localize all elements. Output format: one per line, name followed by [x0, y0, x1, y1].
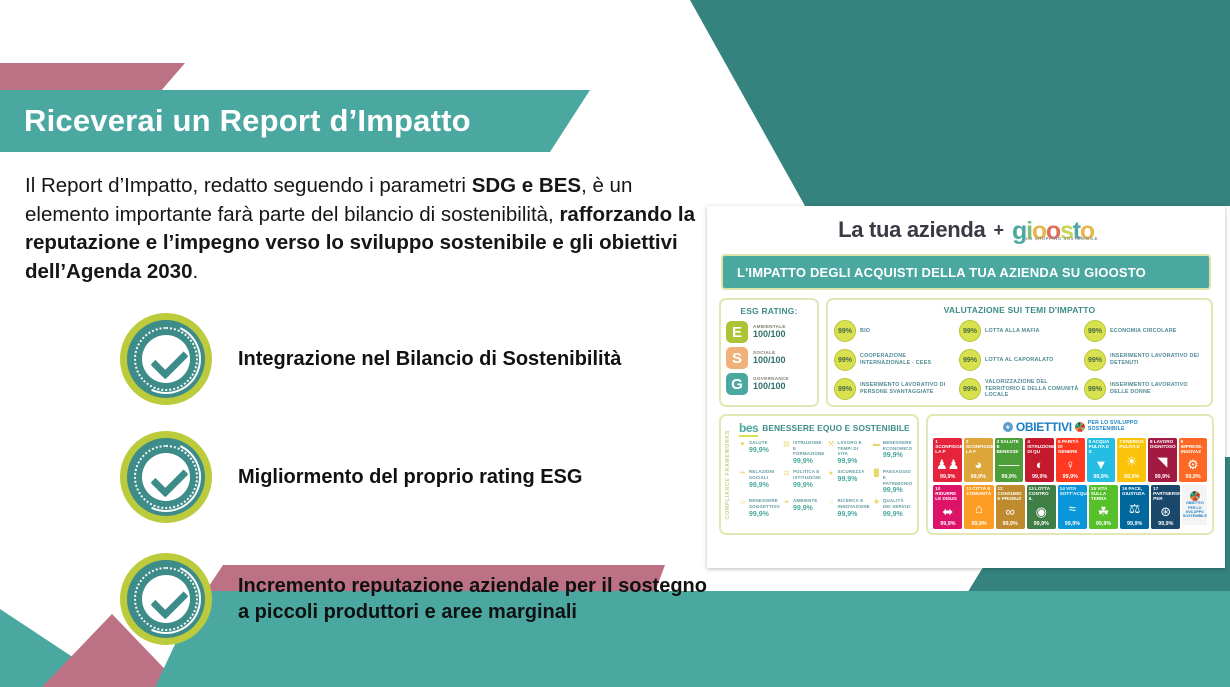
- sdg-title-main: OBIETTIVI: [1016, 420, 1072, 434]
- bes-item: ❧AMBIENTE99,9%: [783, 498, 825, 517]
- impact-themes-panel: VALUTAZIONE SUI TEMI D'IMPATTO 99%BIO99%…: [826, 298, 1213, 407]
- paragraph-part-1: Il Report d’Impatto, redatto seguendo i …: [25, 174, 472, 197]
- sdg-tile-glyph: ▼: [1089, 454, 1114, 474]
- sdg-tile-value: 99,9%: [1058, 474, 1083, 480]
- theme-item: 99%COOPERAZIONE INTERNAZIONALE - CEES: [834, 348, 955, 372]
- theme-percent-badge: 99%: [1084, 320, 1106, 342]
- list-item-label: Incremento reputazione aziendale per il …: [238, 573, 710, 625]
- sdg-tile-glyph: ◥: [1150, 450, 1175, 474]
- sdg-tile: 4 ISTRUZIONE DI QU◐99,9%: [1025, 438, 1054, 482]
- sdg-tile-glyph: ☀: [1119, 450, 1144, 474]
- sdg-tile-number: 12 CONSUMO E PRODUZ: [998, 487, 1023, 501]
- esg-letter-s: S: [726, 347, 748, 369]
- sdg-tile-number: 11 CITTÀ E COMUNITÀ: [966, 487, 991, 497]
- bulb-icon: ○: [828, 499, 835, 506]
- top-panels-row: ESG RATING: E AMBIENTALE 100/100 S SOCIA…: [719, 298, 1213, 407]
- impact-banner-text: L'IMPATTO DEGLI ACQUISTI DELLA TUA AZIEN…: [737, 265, 1146, 280]
- sdg-tile: 2 SCONFIGGERE LA F◕99,9%: [964, 438, 993, 482]
- esg-letter-g: G: [726, 373, 748, 395]
- bes-grid: ♥SALUTE99,9%▤ISTRUZIONE E FORMAZIONE99,9…: [739, 440, 912, 518]
- bes-item-label: BENESSERE ECONOMICO: [883, 440, 912, 451]
- sdg-tile-number: 4 ISTRUZIONE DI QU: [1027, 440, 1052, 454]
- wallet-icon: ▬: [873, 441, 880, 448]
- sdg-tile-glyph: ⌂: [966, 497, 991, 521]
- sdg-logo-line-2: PER LO SVILUPPO SOSTENIBILE: [1182, 507, 1207, 519]
- sdg-tile-number: 3 SALUTE E BENESSE: [997, 440, 1022, 454]
- bes-item-value: 99,9%: [793, 505, 818, 512]
- company-label: La tua azienda: [838, 217, 985, 243]
- impact-report-card: La tua azienda + gioosto LO SHOPPING SOS…: [707, 206, 1225, 568]
- sdg-tile-value: 99,9%: [997, 474, 1022, 480]
- sdg-tile-row: 1 SCONFIGGERE LA P♟♟99,9%2 SCONFIGGERE L…: [933, 438, 1207, 482]
- sdg-tile-number: 2 SCONFIGGERE LA F: [966, 440, 991, 454]
- sdg-tile-glyph: ≈: [1060, 497, 1085, 521]
- card-header: La tua azienda + gioosto LO SHOPPING SOS…: [707, 206, 1225, 254]
- bes-item: ▬BENESSERE ECONOMICO99,9%: [873, 440, 912, 465]
- theme-label: INSERIMENTO LAVORATIVO DI PERSONE SVANTA…: [860, 382, 955, 396]
- theme-item: 99%INSERIMENTO LAVORATIVO DELLE DONNE: [1084, 377, 1205, 401]
- sdg-tile-number: 5 PARITÀ DI GENERE: [1058, 440, 1083, 454]
- check-circle-icon: [120, 313, 212, 405]
- sdg-tile: 17 PARTNERSHIP PER ⊛99,9%: [1151, 485, 1180, 529]
- leaf-icon: ❧: [783, 499, 790, 506]
- book-icon: ▤: [783, 441, 790, 448]
- list-item: Integrazione nel Bilancio di Sostenibili…: [120, 313, 710, 405]
- sdg-tile-number: 9 IMPRESE, INNOVAZ: [1181, 440, 1206, 454]
- themes-column: 99%BIO99%COOPERAZIONE INTERNAZIONALE - C…: [834, 319, 955, 401]
- sdg-tile: 7 ENERGIA PULITA E☀99,9%: [1117, 438, 1146, 482]
- sdg-tile: 1 SCONFIGGERE LA P♟♟99,9%: [933, 438, 962, 482]
- sdg-tile-glyph: ⬌: [935, 501, 960, 521]
- impact-banner: L'IMPATTO DEGLI ACQUISTI DELLA TUA AZIEN…: [721, 254, 1211, 290]
- sdg-tile-value: 99,9%: [966, 474, 991, 480]
- theme-percent-badge: 99%: [1084, 378, 1106, 400]
- sdg-tile-value: 99,9%: [1091, 521, 1116, 527]
- theme-label: LOTTA AL CAPORALATO: [985, 357, 1054, 364]
- bes-item-value: 99,9%: [838, 458, 870, 465]
- bes-item-value: 99,9%: [883, 452, 912, 459]
- slide-canvas: Riceverai un Report d’Impatto Il Report …: [0, 0, 1230, 687]
- sdg-tile-number: 16 PACE, GIUSTIZIA: [1122, 487, 1147, 497]
- themes-grid: 99%BIO99%COOPERAZIONE INTERNAZIONALE - C…: [834, 319, 1205, 401]
- bes-item-value: 99,9%: [838, 511, 870, 518]
- theme-label: LOTTA ALLA MAFIA: [985, 328, 1040, 335]
- sdg-tile-number: 8 LAVORO DIGNITOSO: [1150, 440, 1175, 450]
- sdg-tile-value: 99,9%: [935, 521, 960, 527]
- paragraph-bold-1: SDG e BES: [472, 174, 581, 197]
- bes-item: ⚖POLITICA E ISTITUZIONI99,9%: [783, 469, 825, 494]
- sdg-tile-glyph: ⊛: [1153, 501, 1178, 521]
- work-icon: ⚒: [828, 441, 835, 448]
- theme-item: 99%INSERIMENTO LAVORATIVO DI PERSONE SVA…: [834, 377, 955, 401]
- sdg-wheel-icon: [1075, 422, 1085, 432]
- list-item-label: Integrazione nel Bilancio di Sostenibili…: [238, 346, 621, 372]
- sdg-tile-value: 99,9%: [1153, 521, 1178, 527]
- sdg-tile-value: 99,9%: [1122, 521, 1147, 527]
- scales-icon: ⚖: [783, 470, 790, 477]
- sdg-tile-number: 13 LOTTA CONTRO IL: [1029, 487, 1054, 501]
- shield-icon: ●: [828, 470, 835, 477]
- esg-row-s: S SOCIALE 100/100: [726, 347, 812, 369]
- sdg-tile-value: 99,9%: [1181, 474, 1206, 480]
- list-item: Migliormento del proprio rating ESG: [120, 431, 710, 523]
- title-banner: Riceverai un Report d’Impatto: [0, 90, 590, 152]
- theme-label: INSERIMENTO LAVORATIVO DEI DETENUTI: [1110, 353, 1205, 367]
- benefits-list: Integrazione nel Bilancio di Sostenibili…: [120, 313, 710, 671]
- sdg-tile-glyph: ∞: [998, 501, 1023, 521]
- bes-header: bes BENESSERE EQUO E SOSTENIBILE: [739, 421, 912, 435]
- sdg-title-sub-2: SOSTENIBILE: [1088, 427, 1138, 433]
- theme-item: 99%VALORIZZAZIONE DEL TERRITORIO E DELLA…: [959, 377, 1080, 401]
- bes-item: ⚒LAVORO E TEMPI DI VITA99,9%: [828, 440, 870, 465]
- bes-item-label: QUALITÀ DEI SERVIZI: [883, 498, 912, 509]
- bes-item: ●SICUREZZA99,9%: [828, 469, 870, 494]
- esg-score-g: 100/100: [753, 382, 789, 391]
- esg-row-g: G GOVERNANCE 100/100: [726, 373, 812, 395]
- esg-row-e: E AMBIENTALE 100/100: [726, 321, 812, 343]
- compliance-frameworks-label: COMPLIANCE FRAMEWORKS: [725, 430, 731, 519]
- sdg-tile-glyph: ⸺: [997, 454, 1022, 474]
- sdg-tile: 13 LOTTA CONTRO IL ◉99,9%: [1027, 485, 1056, 529]
- bes-item-label: PAESAGGIO E PATRIMONIO: [883, 469, 912, 486]
- sdg-tile: 11 CITTÀ E COMUNITÀ⌂99,9%: [964, 485, 993, 529]
- sdg-tile-glyph: ◉: [1029, 501, 1054, 521]
- sdg-wheel-icon: [1190, 491, 1200, 501]
- theme-item: 99%LOTTA ALLA MAFIA: [959, 319, 1080, 343]
- gioosto-logo: gioosto LO SHOPPING SOSTENIBILE: [1012, 216, 1094, 245]
- list-item-label: Migliormento del proprio rating ESG: [238, 464, 582, 490]
- sdg-tile-value: 99,9%: [1029, 521, 1054, 527]
- sdg-tile-number: 10 RIDURRE LE DISUG: [935, 487, 960, 501]
- bes-item-value: 99,9%: [749, 447, 769, 454]
- bes-item-label: RELAZIONI SOCIALI: [749, 469, 780, 480]
- bes-item-label: ISTRUZIONE E FORMAZIONE: [793, 440, 825, 457]
- theme-label: COOPERAZIONE INTERNAZIONALE - CEES: [860, 353, 955, 367]
- sdg-tile-value: 99,9%: [1150, 474, 1175, 480]
- sdg-tile: 5 PARITÀ DI GENERE♀99,9%: [1056, 438, 1085, 482]
- bes-item-value: 99,9%: [838, 476, 865, 483]
- bottom-panels-row: COMPLIANCE FRAMEWORKS bes BENESSERE EQUO…: [719, 414, 1213, 535]
- bes-item-value: 99,9%: [883, 511, 912, 518]
- bes-item-label: RICERCA E INNOVAZIONE: [838, 498, 870, 509]
- sdg-tile-value: 99,9%: [966, 521, 991, 527]
- sdg-tile-glyph: ☘: [1091, 501, 1116, 521]
- theme-percent-badge: 99%: [959, 378, 981, 400]
- sdg-tile-number: 17 PARTNERSHIP PER: [1153, 487, 1178, 501]
- bes-item: ☺BENESSERE SOGGETTIVO99,9%: [739, 498, 780, 517]
- bes-item-value: 99,9%: [749, 482, 780, 489]
- bes-panel: COMPLIANCE FRAMEWORKS bes BENESSERE EQUO…: [719, 414, 919, 535]
- sdg-tile: 10 RIDURRE LE DISUG⬌99,9%: [933, 485, 962, 529]
- sdg-tile-value: 99,9%: [1089, 474, 1114, 480]
- bes-item-label: POLITICA E ISTITUZIONI: [793, 469, 825, 480]
- esg-panel-title: ESG RATING:: [726, 306, 812, 316]
- bes-item: ♥SALUTE99,9%: [739, 440, 780, 465]
- plus-symbol: +: [993, 220, 1004, 241]
- theme-label: ECONOMIA CIRCOLARE: [1110, 328, 1177, 335]
- sdg-tile: 9 IMPRESE, INNOVAZ⚙99,9%: [1179, 438, 1208, 482]
- esg-rating-panel: ESG RATING: E AMBIENTALE 100/100 S SOCIA…: [719, 298, 819, 407]
- sdg-tile-row: 10 RIDURRE LE DISUG⬌99,9%11 CITTÀ E COMU…: [933, 485, 1207, 529]
- theme-percent-badge: 99%: [1084, 349, 1106, 371]
- theme-item: 99%INSERIMENTO LAVORATIVO DEI DETENUTI: [1084, 348, 1205, 372]
- un-emblem-icon: ★: [1003, 422, 1013, 432]
- bes-item-label: BENESSERE SOGGETTIVO: [749, 498, 780, 509]
- sdg-tile: 15 VITA SULLA TERRA☘99,9%: [1089, 485, 1118, 529]
- sdg-tile-glyph: ◐: [1027, 454, 1052, 474]
- plus-icon: ✚: [873, 499, 880, 506]
- intro-paragraph: Il Report d’Impatto, redatto seguendo i …: [25, 172, 695, 286]
- esg-letter-e: E: [726, 321, 748, 343]
- bes-item-value: 99,9%: [883, 487, 912, 494]
- sdg-panel: ★ OBIETTIVI PER LO SVILUPPO SOSTENIBILE …: [926, 414, 1214, 535]
- sdg-tile-value: 99,9%: [935, 474, 960, 480]
- theme-item: 99%BIO: [834, 319, 955, 343]
- bes-item: ✚QUALITÀ DEI SERVIZI99,9%: [873, 498, 912, 517]
- theme-label: VALORIZZAZIONE DEL TERRITORIO E DELLA CO…: [985, 379, 1080, 399]
- esg-score-s: 100/100: [753, 356, 786, 365]
- bes-item: █PAESAGGIO E PATRIMONIO99,9%: [873, 469, 912, 494]
- bes-item: ○RICERCA E INNOVAZIONE99,9%: [828, 498, 870, 517]
- people-icon: ••: [739, 470, 746, 477]
- decor-top-right-teal: [690, 0, 1230, 206]
- bes-item-label: AMBIENTE: [793, 498, 818, 504]
- sdg-tile-glyph: ♀: [1058, 454, 1083, 474]
- sdg-tile-value: 99,9%: [1119, 474, 1144, 480]
- sdg-tile-value: 99,9%: [1060, 521, 1085, 527]
- paragraph-part-3: .: [192, 260, 198, 283]
- themes-column: 99%ECONOMIA CIRCOLARE99%INSERIMENTO LAVO…: [1084, 319, 1205, 401]
- smile-icon: ☺: [739, 499, 746, 506]
- sdg-tile-glyph: ⚙: [1181, 454, 1206, 474]
- theme-percent-badge: 99%: [834, 349, 856, 371]
- sdg-tile-glyph: ◕: [966, 454, 991, 474]
- compliance-frameworks-sidebar: COMPLIANCE FRAMEWORKS: [719, 414, 734, 535]
- theme-label: BIO: [860, 328, 870, 335]
- bes-item-value: 99,9%: [749, 511, 780, 518]
- sdg-tile: 16 PACE, GIUSTIZIA ⚖99,9%: [1120, 485, 1149, 529]
- bes-item-value: 99,9%: [793, 458, 825, 465]
- sdg-tile: 6 ACQUA PULITA E S▼99,9%: [1087, 438, 1116, 482]
- bes-item: ••RELAZIONI SOCIALI99,9%: [739, 469, 780, 494]
- check-circle-icon: [120, 431, 212, 523]
- theme-item: 99%ECONOMIA CIRCOLARE: [1084, 319, 1205, 343]
- sdg-tile-glyph: ♟♟: [935, 454, 960, 474]
- list-item: Incremento reputazione aziendale per il …: [120, 553, 710, 645]
- monument-icon: █: [873, 470, 880, 477]
- bes-item-label: SALUTE: [749, 440, 769, 446]
- theme-percent-badge: 99%: [959, 349, 981, 371]
- theme-percent-badge: 99%: [834, 378, 856, 400]
- sdg-tile: 12 CONSUMO E PRODUZ∞99,9%: [996, 485, 1025, 529]
- theme-item: 99%LOTTA AL CAPORALATO: [959, 348, 1080, 372]
- sdg-tile-number: 6 ACQUA PULITA E S: [1089, 440, 1114, 454]
- sdg-tile-glyph: ⚖: [1122, 497, 1147, 521]
- sdg-tile: 3 SALUTE E BENESSE⸺99,9%: [995, 438, 1024, 482]
- sdg-header: ★ OBIETTIVI PER LO SVILUPPO SOSTENIBILE: [933, 420, 1207, 434]
- heart-icon: ♥: [739, 441, 746, 448]
- themes-panel-title: VALUTAZIONE SUI TEMI D'IMPATTO: [834, 305, 1205, 315]
- theme-percent-badge: 99%: [834, 320, 856, 342]
- sdg-logo-tile: OBIETTIVIPER LO SVILUPPO SOSTENIBILE: [1182, 485, 1207, 525]
- sdg-tile-number: 15 VITA SULLA TERRA: [1091, 487, 1116, 501]
- bes-logo: bes: [739, 421, 758, 435]
- bes-item: ▤ISTRUZIONE E FORMAZIONE99,9%: [783, 440, 825, 465]
- sdg-tile-value: 99,9%: [1027, 474, 1052, 480]
- sdg-tile-rows: 1 SCONFIGGERE LA P♟♟99,9%2 SCONFIGGERE L…: [933, 438, 1207, 529]
- bes-item-label: LAVORO E TEMPI DI VITA: [838, 440, 870, 457]
- sdg-tile-number: 7 ENERGIA PULITA E: [1119, 440, 1144, 450]
- page-title: Riceverai un Report d’Impatto: [0, 103, 471, 139]
- sdg-tile: 8 LAVORO DIGNITOSO◥99,9%: [1148, 438, 1177, 482]
- bes-item-value: 99,9%: [793, 482, 825, 489]
- decor-top-left-rose: [0, 63, 185, 92]
- themes-column: 99%LOTTA ALLA MAFIA99%LOTTA AL CAPORALAT…: [959, 319, 1080, 401]
- gioosto-tagline: LO SHOPPING SOSTENIBILE: [1026, 236, 1098, 241]
- sdg-tile-value: 99,9%: [998, 521, 1023, 527]
- sdg-tile-number: 1 SCONFIGGERE LA P: [935, 440, 960, 454]
- bes-title: BENESSERE EQUO E SOSTENIBILE: [762, 423, 910, 433]
- sdg-tile: 14 VITA SOTT'ACQUA≈99,9%: [1058, 485, 1087, 529]
- bes-item-label: SICUREZZA: [838, 469, 865, 475]
- esg-score-e: 100/100: [753, 330, 786, 339]
- check-circle-icon: [120, 553, 212, 645]
- theme-label: INSERIMENTO LAVORATIVO DELLE DONNE: [1110, 382, 1205, 396]
- theme-percent-badge: 99%: [959, 320, 981, 342]
- sdg-tile-number: 14 VITA SOTT'ACQUA: [1060, 487, 1085, 497]
